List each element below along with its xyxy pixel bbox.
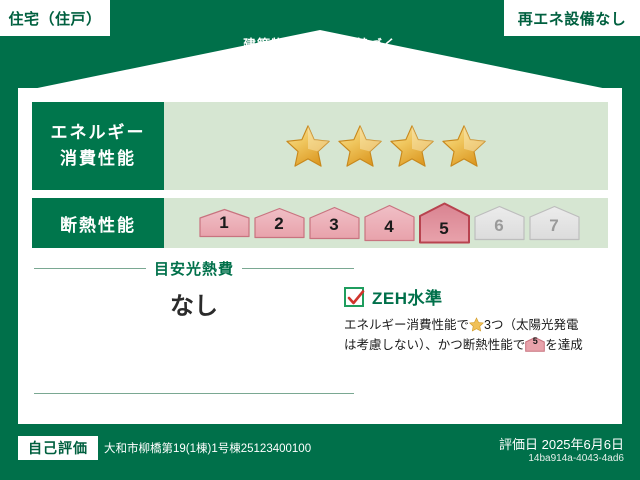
evaluation-date-label: 評価日	[499, 437, 538, 452]
zeh-checkbox[interactable]	[344, 287, 364, 307]
zeh-desc-part3: を達成	[545, 338, 583, 352]
insulation-level-value: 1	[219, 213, 228, 238]
insulation-level-value: 6	[494, 216, 503, 241]
evaluation-date: 評価日 2025年6月6日	[499, 434, 624, 453]
label-header: 建築物省エネ法に基づく 省エネ性能ラベル	[0, 36, 640, 92]
renewable-energy-tag: 再エネ設備なし	[504, 0, 640, 36]
property-address: 大和市柳橋第19(1棟)1号棟25123400100	[104, 440, 311, 456]
insulation-level-badge: 2	[253, 207, 306, 239]
energy-performance-label-key: エネルギー 消費性能	[32, 102, 164, 190]
insulation-level-badge: 1	[198, 208, 251, 238]
insulation-level-value: 7	[549, 216, 558, 241]
insulation-level-badge: 5	[418, 202, 471, 244]
zeh-desc-part2: は考慮しない）、かつ断熱性能で	[344, 338, 525, 352]
label-footer: 自己評価 大和市柳橋第19(1棟)1号棟25123400100 評価日 2025…	[0, 424, 640, 480]
star-icon	[441, 123, 487, 169]
evaluation-date-value: 2025年6月6日	[542, 437, 624, 452]
utility-cost-bottom-divider	[34, 393, 354, 394]
page-title: 省エネ性能ラベル	[0, 54, 640, 84]
star-icon	[337, 123, 383, 169]
zeh-desc-stars: 3つ（太陽光発電	[484, 318, 578, 332]
insulation-level-value: 2	[274, 214, 283, 239]
star-icon	[389, 123, 435, 169]
insulation-level-value: 5	[439, 219, 448, 244]
zeh-description: エネルギー消費性能で3つ（太陽光発電は考慮しない）、かつ断熱性能で5を達成	[344, 315, 606, 355]
utility-cost-header: 目安光熱費	[34, 258, 354, 279]
insulation-level-badge: 7	[528, 205, 581, 241]
zeh-title: ZEH水準	[372, 284, 443, 309]
energy-performance-label: 住宅（住戸） 再エネ設備なし 建築物省エネ法に基づく 省エネ性能ラベル エネルギ…	[0, 0, 640, 480]
inline-badge-value: 5	[525, 337, 545, 352]
inline-insulation-badge: 5	[525, 337, 545, 352]
energy-star-rating	[164, 102, 608, 190]
energy-label-line1: エネルギー	[51, 120, 146, 146]
zeh-desc-part1: エネルギー消費性能で	[344, 318, 469, 332]
utility-cost-title: 目安光熱費	[154, 258, 234, 279]
insulation-level-value: 3	[329, 215, 338, 240]
utility-cost-value: なし	[34, 286, 354, 321]
check-icon	[347, 289, 365, 307]
insulation-performance-row: 断熱性能 1234567	[32, 198, 608, 248]
zeh-section: ZEH水準 エネルギー消費性能で3つ（太陽光発電は考慮しない）、かつ断熱性能で5…	[344, 284, 606, 355]
energy-performance-row: エネルギー 消費性能	[32, 102, 608, 190]
insulation-performance-label-key: 断熱性能	[32, 198, 164, 248]
zeh-title-row: ZEH水準	[344, 284, 606, 309]
inline-star-icon	[469, 317, 484, 332]
insulation-level-scale: 1234567	[164, 198, 608, 248]
divider-right	[242, 268, 354, 269]
building-type-tag: 住宅（住戸）	[0, 0, 110, 36]
evaluation-id: 14ba914a-4043-4ad6	[528, 453, 624, 464]
label-card: エネルギー 消費性能 断熱性能 1234567 目安光熱費 なし	[18, 88, 622, 424]
energy-label-line2: 消費性能	[51, 146, 146, 172]
header-subtitle: 建築物省エネ法に基づく	[0, 36, 640, 54]
divider-left	[34, 268, 146, 269]
star-icon	[285, 123, 331, 169]
insulation-level-value: 4	[384, 217, 393, 242]
insulation-level-badge: 4	[363, 204, 416, 242]
insulation-level-badge: 6	[473, 205, 526, 241]
self-evaluation-badge: 自己評価	[18, 436, 98, 460]
insulation-level-badge: 3	[308, 206, 361, 240]
